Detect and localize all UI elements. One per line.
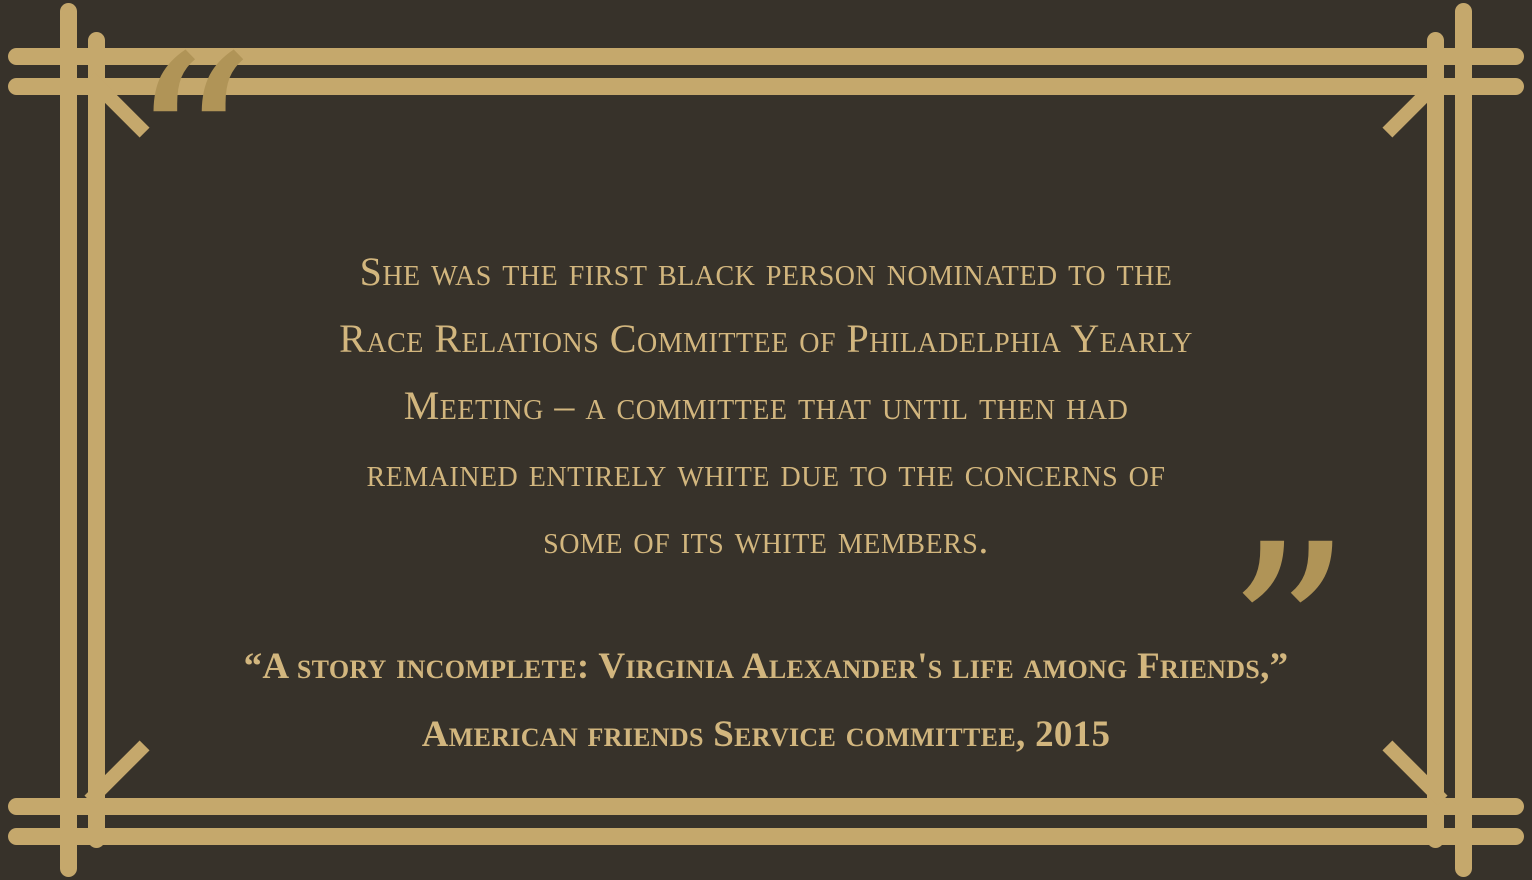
quote-line: remained entirely white due to the conce…: [110, 439, 1422, 506]
quote-card: “ “ She was the first black person nomin…: [0, 0, 1532, 880]
frame-top-right-inner-vertical: [1427, 32, 1444, 848]
quote-line: Race Relations Committee of Philadelphia…: [110, 305, 1422, 372]
quote-attribution: “A story incomplete: Virginia Alexander'…: [110, 633, 1422, 769]
quote-body: She was the first black person nominated…: [110, 238, 1422, 573]
quote-content: She was the first black person nominated…: [110, 238, 1422, 769]
quote-line: some of its white members.: [110, 506, 1422, 573]
frame-bottom-inner-horizontal: [8, 798, 1524, 815]
frame-top-left-outer-vertical: [60, 3, 77, 877]
frame-top-right-outer-vertical: [1455, 3, 1472, 877]
quote-line: Meeting – a committee that until then ha…: [110, 372, 1422, 439]
frame-top-left-inner-vertical: [88, 32, 105, 848]
frame-bottom-outer-horizontal: [8, 828, 1524, 845]
attribution-title: “A story incomplete: Virginia Alexander'…: [110, 633, 1422, 701]
opening-quote-icon: “: [128, 24, 258, 274]
attribution-source: American friends Service committee, 2015: [110, 701, 1422, 769]
quote-line: She was the first black person nominated…: [110, 238, 1422, 305]
